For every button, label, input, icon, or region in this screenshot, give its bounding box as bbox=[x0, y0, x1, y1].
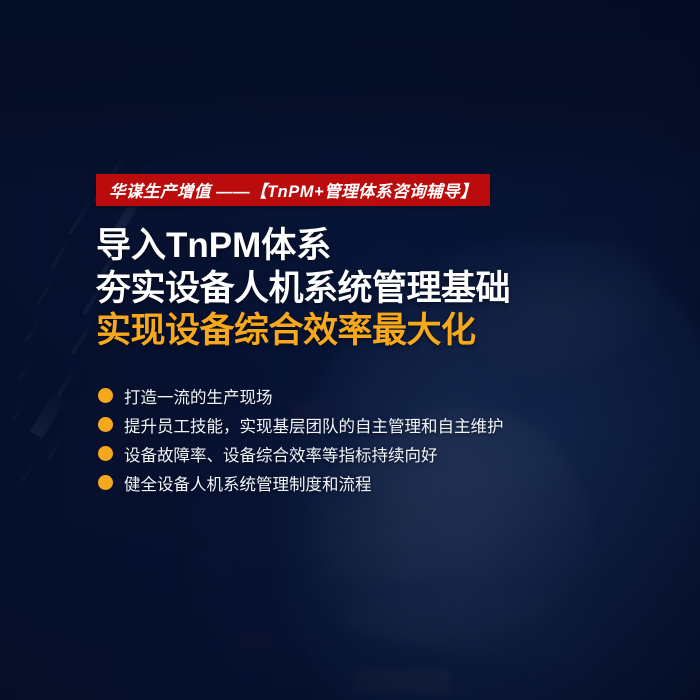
bullet-dot-icon bbox=[98, 388, 113, 403]
ribbon-label: 华谋生产增值 ——【TnPM+管理体系咨询辅导】 bbox=[109, 178, 477, 202]
list-item: 打造一流的生产现场 bbox=[98, 383, 618, 408]
headline-line-1: 导入TnPM体系 bbox=[96, 228, 616, 263]
list-item: 提升员工技能，实现基层团队的自主管理和自主维护 bbox=[98, 412, 618, 437]
list-item: 健全设备人机系统管理制度和流程 bbox=[98, 470, 618, 495]
headline-line-3-highlight: 实现设备综合效率最大化 bbox=[96, 313, 616, 348]
headline-block: 导入TnPM体系 夯实设备人机系统管理基础 实现设备综合效率最大化 bbox=[96, 228, 616, 348]
bullet-dot-icon bbox=[98, 417, 113, 432]
bullet-dot-icon bbox=[98, 475, 113, 490]
promotional-poster: 华谋生产增值 ——【TnPM+管理体系咨询辅导】 导入TnPM体系 夯实设备人机… bbox=[0, 0, 700, 700]
list-item-label: 健全设备人机系统管理制度和流程 bbox=[124, 471, 372, 495]
list-item: 设备故障率、设备综合效率等指标持续向好 bbox=[98, 441, 618, 466]
list-item-label: 设备故障率、设备综合效率等指标持续向好 bbox=[124, 442, 438, 466]
list-item-label: 打造一流的生产现场 bbox=[124, 384, 273, 408]
ribbon-banner: 华谋生产增值 ——【TnPM+管理体系咨询辅导】 bbox=[96, 174, 490, 206]
list-item-label: 提升员工技能，实现基层团队的自主管理和自主维护 bbox=[124, 413, 504, 437]
headline-line-2: 夯实设备人机系统管理基础 bbox=[96, 271, 616, 306]
bullet-dot-icon bbox=[98, 446, 113, 461]
benefit-list: 打造一流的生产现场 提升员工技能，实现基层团队的自主管理和自主维护 设备故障率、… bbox=[98, 383, 618, 499]
poster-content: 华谋生产增值 ——【TnPM+管理体系咨询辅导】 导入TnPM体系 夯实设备人机… bbox=[0, 0, 700, 700]
